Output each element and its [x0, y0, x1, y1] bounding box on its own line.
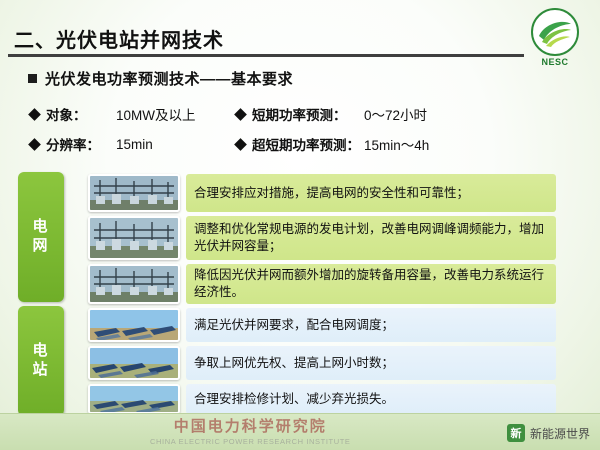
watermark: 新 新能源世界 [507, 424, 590, 442]
param-value: 0～72小时 [364, 104, 494, 124]
diamond-bullet-icon [234, 108, 247, 121]
title-divider [8, 54, 524, 57]
row-text: 调整和优化常规电源的发电计划，改善电网调峰调频能力，增加光伏并网容量； [186, 216, 556, 260]
page-title: 二、光伏电站并网技术 [14, 24, 224, 53]
subtitle: 光伏发电功率预测技术——基本要求 [45, 68, 293, 89]
substation-photo-thumbnail [88, 174, 180, 212]
param-label: 超短期功率预测： [252, 134, 364, 154]
nesc-swirl-icon [531, 8, 579, 56]
solar-farm-photo-thumbnail [88, 308, 180, 342]
row-text: 争取上网优先权、提高上网小时数； [186, 346, 556, 380]
bullet-square-icon [28, 74, 37, 83]
diamond-bullet-icon [28, 108, 41, 121]
param-value: 10MW及以上 [116, 104, 236, 124]
watermark-badge-icon: 新 [507, 424, 525, 442]
param-label: 对象： [46, 104, 116, 124]
param-label: 短期功率预测： [252, 104, 364, 124]
institute-name-en: CHINA ELECTRIC POWER RESEARCH INSTITUTE [150, 437, 351, 446]
content-row: 争取上网优先权、提高上网小时数； [88, 346, 556, 380]
param-value: 15min [116, 137, 236, 152]
substation-photo-thumbnail [88, 216, 180, 260]
content-row: 降低因光伏并网而额外增加的旋转备用容量，改善电力系统运行经济性。 [88, 264, 556, 304]
content-row: 满足光伏并网要求，配合电网调度； [88, 308, 556, 342]
tab-char: 电 [32, 342, 49, 361]
parameter-grid: 对象： 10MW及以上 短期功率预测： 0～72小时 分辨率： 15min 超短… [30, 104, 575, 154]
row-text: 降低因光伏并网而额外增加的旋转备用容量，改善电力系统运行经济性。 [186, 264, 556, 304]
watermark-text: 新能源世界 [530, 425, 590, 442]
param-label: 分辨率： [46, 134, 116, 154]
content-row: 合理安排检修计划、减少弃光损失。 [88, 384, 556, 414]
substation-photo-thumbnail [88, 264, 180, 304]
param-value: 15min～4h [364, 134, 494, 154]
diamond-bullet-icon [28, 138, 41, 151]
tab-char: 网 [32, 237, 49, 256]
institute-logo: 中国电力科学研究院 CHINA ELECTRIC POWER RESEARCH … [150, 415, 351, 446]
solar-farm-photo-thumbnail [88, 384, 180, 414]
content-row: 合理安排应对措施，提高电网的安全性和可靠性； [88, 174, 556, 212]
section-tab-grid[interactable]: 电 网 [18, 172, 64, 302]
row-text: 合理安排应对措施，提高电网的安全性和可靠性； [186, 174, 556, 212]
institute-name-cn: 中国电力科学研究院 [150, 415, 351, 436]
logo-text: NESC [524, 57, 586, 67]
solar-farm-photo-thumbnail [88, 346, 180, 380]
tab-char: 站 [32, 361, 49, 380]
content-row: 调整和优化常规电源的发电计划，改善电网调峰调频能力，增加光伏并网容量； [88, 216, 556, 260]
row-text: 合理安排检修计划、减少弃光损失。 [186, 384, 556, 414]
tab-char: 电 [32, 218, 49, 237]
subtitle-row: 光伏发电功率预测技术——基本要求 [28, 68, 293, 89]
logo: NESC [524, 8, 586, 67]
diamond-bullet-icon [234, 138, 247, 151]
section-tab-plant[interactable]: 电 站 [18, 306, 64, 416]
slide-canvas: NESC 二、光伏电站并网技术 光伏发电功率预测技术——基本要求 对象： 10M… [0, 0, 600, 450]
row-text: 满足光伏并网要求，配合电网调度； [186, 308, 556, 342]
